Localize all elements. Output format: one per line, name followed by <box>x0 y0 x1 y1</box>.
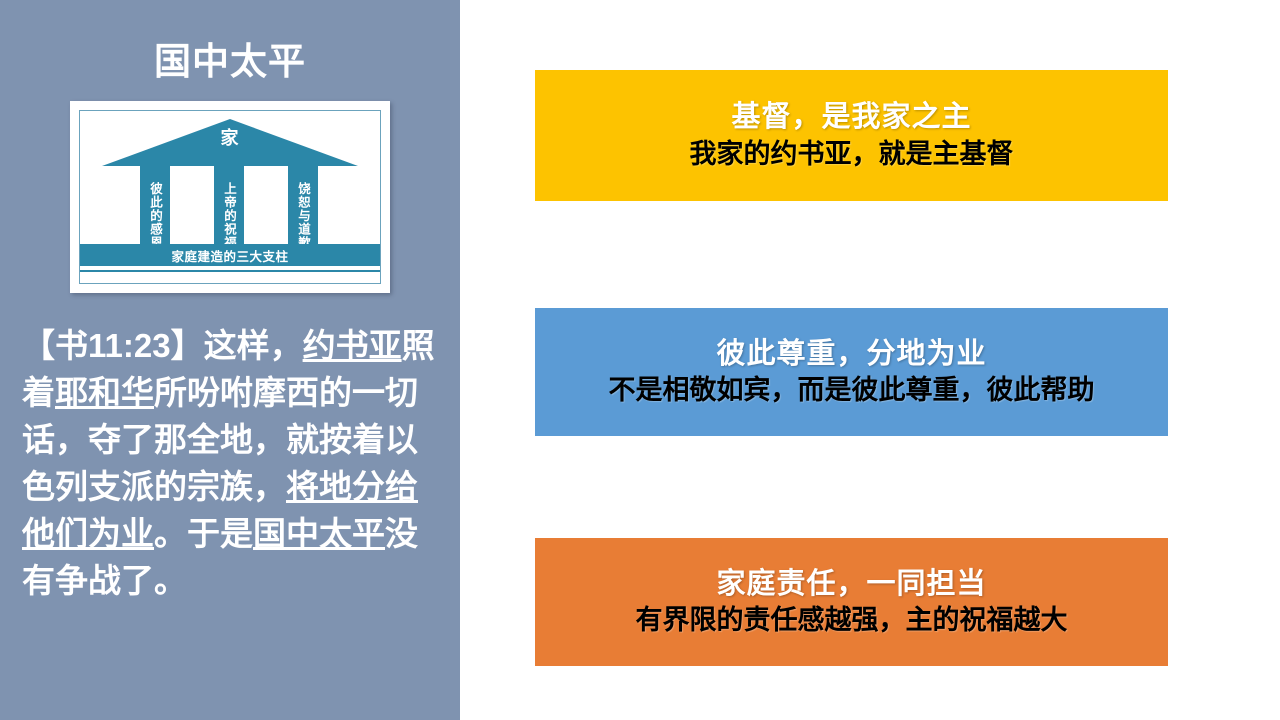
scripture-run: 。于是 <box>154 515 253 552</box>
point-box-respect: 彼此尊重，分地为业 不是相敬如宾，而是彼此尊重，彼此帮助 <box>535 308 1168 436</box>
point-respect-subtitle: 不是相敬如宾，而是彼此尊重，彼此帮助 <box>609 375 1095 406</box>
left-panel: 国中太平 家 彼此的感恩 上帝的祝福 饶恕与道歉 家庭建造的三大支柱 【书11:… <box>0 0 460 720</box>
three-pillars-canvas: 家 彼此的感恩 上帝的祝福 饶恕与道歉 家庭建造的三大支柱 <box>79 110 381 284</box>
point-box-christ: 基督，是我家之主 我家的约书亚，就是主基督 <box>535 70 1168 201</box>
right-panel: 基督，是我家之主 我家的约书亚，就是主基督 彼此尊重，分地为业 不是相敬如宾，而… <box>460 0 1280 720</box>
scripture-emphasis: 国中太平 <box>253 515 385 552</box>
roof-label: 家 <box>221 129 240 147</box>
scripture-emphasis: 约书亚 <box>303 327 402 364</box>
scripture-emphasis: 耶和华 <box>55 374 154 411</box>
point-duty-subtitle: 有界限的责任感越强，主的祝福越大 <box>636 605 1068 636</box>
point-duty-title: 家庭责任，一同担当 <box>716 568 986 601</box>
point-respect-title: 彼此尊重，分地为业 <box>716 338 986 371</box>
figure-base-caption: 家庭建造的三大支柱 <box>80 244 380 266</box>
point-christ-title: 基督，是我家之主 <box>731 101 971 134</box>
presentation-slide: 国中太平 家 彼此的感恩 上帝的祝福 饶恕与道歉 家庭建造的三大支柱 【书11:… <box>0 0 1280 720</box>
three-pillars-figure: 家 彼此的感恩 上帝的祝福 饶恕与道歉 家庭建造的三大支柱 <box>70 101 390 293</box>
scripture-run: 【书11:23】这样， <box>22 327 303 364</box>
figure-base-rule <box>80 270 380 272</box>
point-box-duty: 家庭责任，一同担当 有界限的责任感越强，主的祝福越大 <box>535 538 1168 666</box>
page-title: 国中太平 <box>0 42 460 83</box>
scripture-text: 【书11:23】这样，约书亚照着耶和华所吩咐摩西的一切话，夺了那全地，就按着以色… <box>22 322 440 604</box>
point-christ-subtitle: 我家的约书亚，就是主基督 <box>690 139 1014 170</box>
